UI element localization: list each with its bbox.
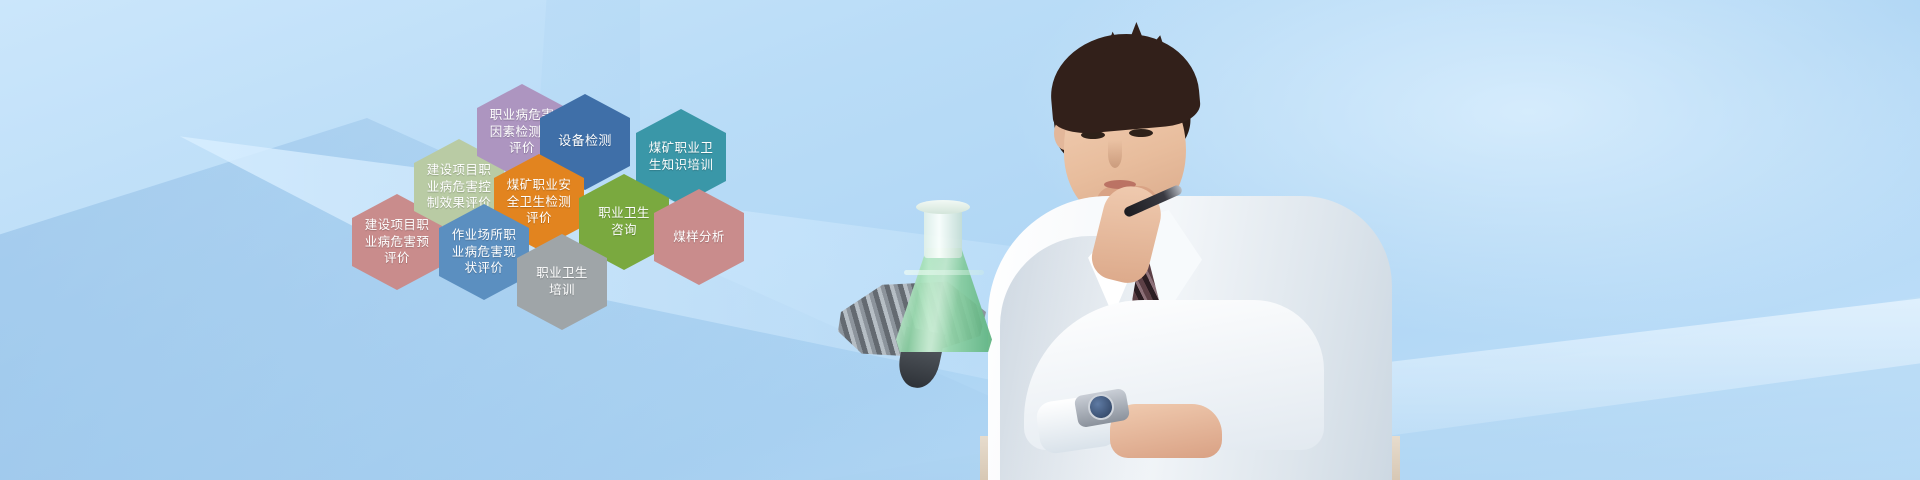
- hex-label-line: 建设项目职: [418, 162, 501, 179]
- hex-label-line: 业病危害控: [418, 179, 501, 196]
- conical-flask: [890, 196, 1000, 356]
- hex-label: 设备检测: [549, 133, 621, 150]
- hex-label: 建设项目职业病危害控制效果评价: [418, 162, 501, 212]
- hex-label-line: 评价: [356, 250, 439, 267]
- hex-label: 建设项目职业病危害预评价: [356, 217, 439, 267]
- hex-label-line: 生知识培训: [640, 157, 723, 174]
- hex-label-line: 状评价: [443, 260, 526, 277]
- hex-label-line: 煤矿职业卫: [640, 140, 723, 157]
- hex-label-line: 培训: [527, 282, 597, 299]
- hex-label-line: 全卫生检测: [498, 194, 581, 211]
- hex-label-line: 作业场所职: [443, 227, 526, 244]
- flask-rim: [916, 200, 970, 214]
- hair-front: [1046, 28, 1202, 137]
- eye-right: [1129, 129, 1153, 137]
- hex-label-line: 建设项目职: [356, 217, 439, 234]
- flask-glass-shine: [896, 248, 992, 352]
- hex-label-line: 咨询: [589, 222, 659, 239]
- hex-label: 作业场所职业病危害现状评价: [443, 227, 526, 277]
- hex-label-line: 业病危害预: [356, 234, 439, 251]
- hex-label: 职业卫生培训: [527, 265, 597, 299]
- service-hexagon-cluster: 建设项目职业病危害预评价建设项目职业病危害控制效果评价职业病危害因素检测与评价设…: [0, 0, 800, 400]
- hex-label: 煤矿职业卫生知识培训: [640, 140, 723, 174]
- hex-label-line: 煤样分析: [664, 229, 734, 246]
- flask-fill-line: [904, 270, 984, 275]
- hex-label-line: 设备检测: [549, 133, 621, 150]
- scientist-photo: [980, 0, 1400, 480]
- hex-label: 职业卫生咨询: [589, 205, 659, 239]
- hair-spikes: [1100, 22, 1170, 66]
- hero-banner: 建设项目职业病危害预评价建设项目职业病危害控制效果评价职业病危害因素检测与评价设…: [0, 0, 1920, 480]
- hex-label-line: 职业卫生: [589, 205, 659, 222]
- hex-label: 煤样分析: [664, 229, 734, 246]
- hex-label-line: 煤矿职业安: [498, 177, 581, 194]
- hex-label-line: 职业卫生: [527, 265, 597, 282]
- nose: [1108, 140, 1122, 168]
- hex-label-line: 业病危害现: [443, 244, 526, 261]
